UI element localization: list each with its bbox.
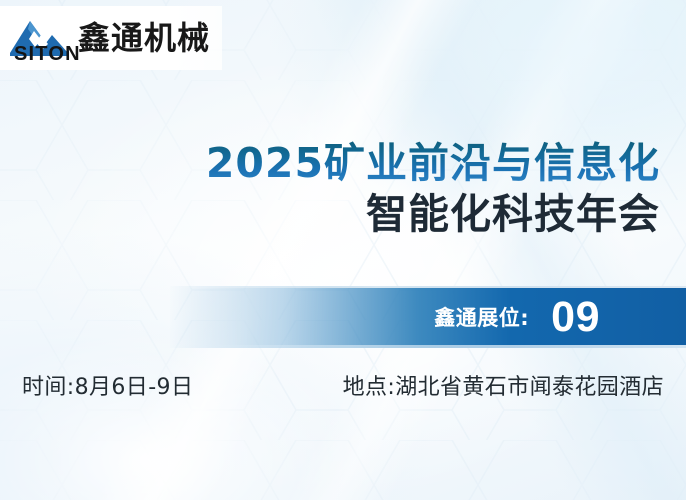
- booth-number: 09: [551, 296, 600, 339]
- light-streak-overlay: [0, 0, 686, 500]
- headline-block: 2025矿业前沿与信息化 智能化科技年会: [0, 140, 660, 239]
- brand-logo: SITON 鑫通机械: [0, 6, 222, 70]
- bottom-left-glow: [0, 330, 360, 500]
- exhibition-poster: SITON 鑫通机械 2025矿业前沿与信息化 智能化科技年会 鑫通展位: 09…: [0, 0, 686, 500]
- hexagon-pattern-background: [0, 0, 686, 500]
- event-date: 时间:8月6日-9日: [22, 369, 193, 401]
- booth-number-banner: 鑫通展位: 09: [170, 286, 686, 348]
- event-venue: 地点:湖北省黄石市闻泰花园酒店: [343, 369, 664, 401]
- headline-line-1: 2025矿业前沿与信息化: [0, 140, 660, 188]
- logo-latin-text: SITON: [14, 44, 81, 64]
- logo-chinese-text: 鑫通机械: [78, 22, 210, 54]
- booth-label: 鑫通展位:: [434, 302, 529, 332]
- siton-mountain-icon: SITON: [8, 13, 70, 63]
- event-info-row: 时间:8月6日-9日 地点:湖北省黄石市闻泰花园酒店: [22, 369, 664, 401]
- headline-line-2: 智能化科技年会: [0, 190, 660, 239]
